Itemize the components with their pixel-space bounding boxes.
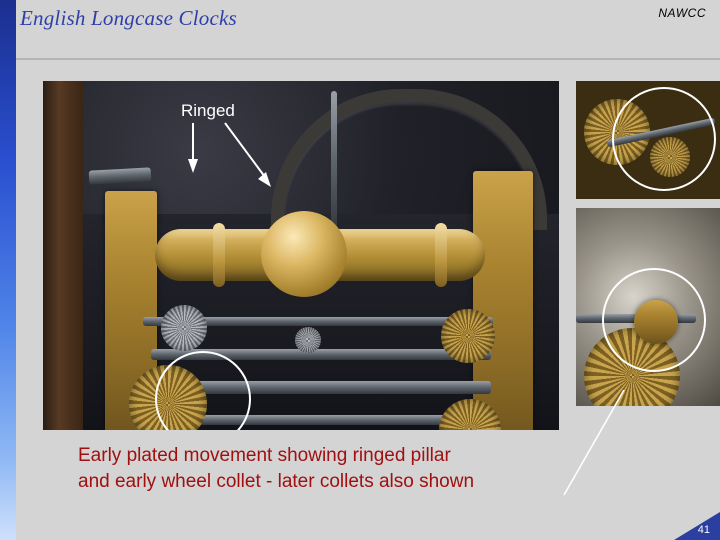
wheel-right-upper xyxy=(441,309,495,363)
page-number: 41 xyxy=(698,524,710,536)
ringed-annotation-label: Ringed xyxy=(181,101,235,121)
early-plated-movement-photo: Ringed xyxy=(43,81,559,430)
wheel-collet-early xyxy=(161,305,207,351)
caption-block: Early plated movement showing ringed pil… xyxy=(78,443,638,495)
caption-line-2: and early wheel collet - later collets a… xyxy=(78,469,638,495)
vertical-rod-center xyxy=(331,91,337,231)
caption-line-1: Early plated movement showing ringed pil… xyxy=(78,443,638,469)
steel-wheel-collet-detail-photo xyxy=(576,208,720,406)
header-divider xyxy=(16,58,720,60)
pillar-ring-left xyxy=(213,223,225,287)
highlight-circle-bottom-collet xyxy=(602,268,706,372)
pinion-center xyxy=(295,327,321,353)
pillar-ring-right xyxy=(435,223,447,287)
pillar-center-bulge xyxy=(261,211,347,297)
gold-movement-detail-photo xyxy=(576,81,720,199)
wooden-post xyxy=(43,81,83,430)
highlight-circle-top-collet xyxy=(612,87,716,191)
slide: English Longcase Clocks NAWCC Ring xyxy=(0,0,720,540)
left-gradient-bar xyxy=(0,0,16,540)
organization-label: NAWCC xyxy=(658,6,706,20)
page-title: English Longcase Clocks xyxy=(20,6,237,31)
